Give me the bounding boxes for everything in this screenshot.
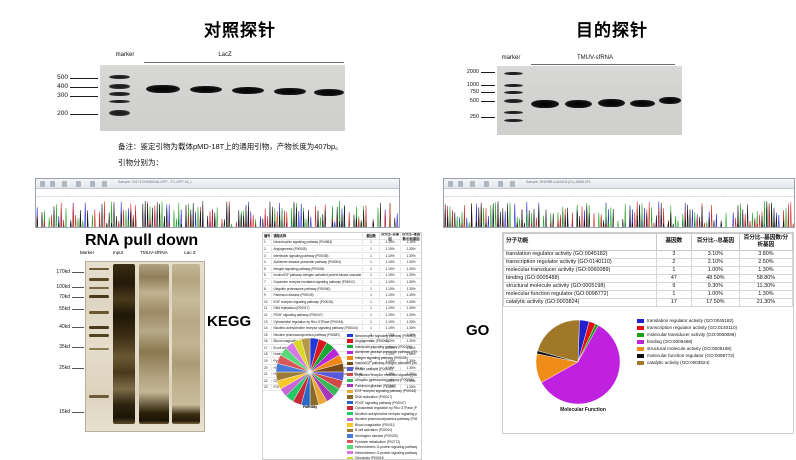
kegg-cell-genes: 1 xyxy=(362,254,379,258)
go-col-pct-analyzed: 百分比--基因数/分析基因 xyxy=(739,234,792,251)
legend-swatch xyxy=(637,319,644,323)
go-cell-pct-total: 17.50% xyxy=(692,298,740,306)
pulldown-lane-lacz: Lac Z xyxy=(176,250,204,255)
legend-label: Kinase cascade (P00032) xyxy=(355,367,393,371)
legend-swatch xyxy=(347,356,353,359)
kegg-cell-pathway: Parkinson disease (P00049) xyxy=(271,293,362,297)
kegg-cell-genes: 1 xyxy=(362,320,379,324)
chromatogram-right-ruler xyxy=(444,189,794,197)
go-cell-pct-total: 2.10% xyxy=(692,258,740,266)
go-cell-pct-analyzed: 58.80% xyxy=(739,274,792,282)
kegg-cell-pathway: EGF receptor signaling pathway (P00018) xyxy=(271,300,362,304)
go-cell-genes: 17 xyxy=(656,298,692,306)
ladder-label-55kd: 55kd xyxy=(48,306,70,312)
target-gel-sample-rule xyxy=(531,64,675,65)
go-cell-pct-total: 1.00% xyxy=(692,290,740,298)
marker-band xyxy=(89,311,109,314)
legend-label: transcription regulator activity (GO:014… xyxy=(647,325,737,330)
kegg-cell-no: 3 xyxy=(263,254,271,258)
marker-band xyxy=(109,110,130,116)
legend-swatch xyxy=(347,390,353,393)
kegg-cell-genes: 1 xyxy=(362,293,379,297)
go-sheet[interactable]: 分子功能 基因数 百分比--总基因 百分比--基因数/分析基因 translat… xyxy=(502,232,794,434)
kegg-cell-genes: 1 xyxy=(362,313,379,317)
legend-label: EGF receptor signaling pathway (P00018) xyxy=(355,389,416,393)
legend-label: Neurotrophin signaling pathway (P04963) xyxy=(355,334,416,338)
kegg-sheet[interactable]: 编号 通路名称 基因数 百分比--总基因 百分比--基因数/分析基因 1Neur… xyxy=(262,232,422,460)
kegg-cell-pathway: PDGF signaling pathway (P00047) xyxy=(271,313,362,317)
ladder-label-500: 500 xyxy=(455,98,479,104)
ladder-tick xyxy=(72,297,84,298)
marker-band xyxy=(89,295,109,298)
open-icon[interactable] xyxy=(40,181,45,187)
kegg-cell-pct-total: 1.10% xyxy=(379,267,400,271)
kegg-table-row: 12PDGF signaling pathway (P00047)11.10%1… xyxy=(263,312,421,319)
marker-band xyxy=(504,84,523,87)
go-table-row: structural molecule activity (GO:0005198… xyxy=(504,282,793,290)
marker-band xyxy=(109,100,130,103)
save-icon[interactable] xyxy=(458,181,463,187)
chromatogram-left-trace xyxy=(36,197,399,228)
sample-band xyxy=(232,87,264,94)
input-lane-smear xyxy=(113,264,135,424)
kegg-cell-pct-total: 1.10% xyxy=(379,254,400,258)
pulldown-lane-labels: Marker Input TMUV-sfRNA Lac Z xyxy=(72,250,204,260)
kegg-cell-no: 14 xyxy=(263,326,271,330)
kegg-cell-pct-analyzed: 1.30% xyxy=(400,320,421,324)
go-cell-pct-total: 48.50% xyxy=(692,274,740,282)
kegg-cell-pathway: Nicotinic acetylcholine receptor signali… xyxy=(271,326,362,330)
kegg-cell-no: 6 xyxy=(263,273,271,277)
kegg-table-row: 7Dopamine receptor mediated signaling pa… xyxy=(263,279,421,286)
kegg-legend-item: Nicotinic acetylcholine receptor signali… xyxy=(347,411,417,416)
go-table: 分子功能 基因数 百分比--总基因 百分比--基因数/分析基因 translat… xyxy=(503,233,793,307)
kegg-cell-pct-total: 1.10% xyxy=(379,326,400,330)
kegg-cell-pct-total: 1.10% xyxy=(379,320,400,324)
marker-band xyxy=(89,348,109,350)
kegg-legend-item: Nicotine pharmacodynamics pathway (P0658… xyxy=(347,417,417,422)
legend-swatch xyxy=(347,429,353,432)
trace-svg xyxy=(444,197,794,228)
go-pie-chart xyxy=(533,317,633,407)
legend-label: PDGF signaling pathway (P00047) xyxy=(355,401,406,405)
legend-swatch xyxy=(637,354,644,358)
ladder-label-40kd: 40kd xyxy=(48,324,70,330)
tmuv-lane-smear xyxy=(139,264,169,424)
marker-band xyxy=(89,334,109,337)
legend-label: Pyruvate metabolism (P02772) xyxy=(355,440,400,444)
go-table-row: molecular function regulator (GO:0098772… xyxy=(504,290,793,298)
go-cell-genes: 9 xyxy=(656,282,692,290)
kegg-legend-item: Parkinson disease (P00049) xyxy=(347,383,417,388)
kegg-cell-no: 12 xyxy=(263,313,271,317)
ladder-tick xyxy=(481,101,495,102)
kegg-cell-genes: 1 xyxy=(362,306,379,310)
go-cell-pct-analyzed: 1.30% xyxy=(739,290,792,298)
legend-swatch xyxy=(347,434,353,437)
legend-label: catalytic activity (GO:0003824) xyxy=(647,360,710,365)
legend-label: Integrin signaling pathway (P00034) xyxy=(355,356,408,360)
legend-label: Insulin/IGF pathway-mitogen activated pr… xyxy=(355,361,417,365)
go-cell-pct-analyzed: 11.30% xyxy=(739,282,792,290)
settings-icon[interactable] xyxy=(510,181,515,187)
kegg-cell-genes: 1 xyxy=(362,273,379,277)
go-legend-item: molecular transducer activity (GO:006008… xyxy=(637,331,793,338)
kegg-cell-no: 8 xyxy=(263,287,271,291)
legend-swatch xyxy=(347,406,353,409)
legend-swatch xyxy=(347,423,353,426)
kegg-legend-item: Dopamine receptor mediated signaling pat… xyxy=(347,372,417,377)
ladder-tick xyxy=(70,87,98,88)
kegg-cell-pct-analyzed: 1.30% xyxy=(400,240,421,244)
ladder-tick xyxy=(481,117,495,118)
kegg-cell-genes: 1 xyxy=(362,267,379,271)
legend-swatch xyxy=(637,361,644,365)
ladder-tick xyxy=(70,96,98,97)
pulldown-lane-input: Input xyxy=(105,250,131,255)
sample-band xyxy=(659,97,681,104)
kegg-legend-item: Blood coagulation (P00011) xyxy=(347,422,417,427)
kegg-cell-pct-total: 1.10% xyxy=(379,313,400,317)
trace-channel xyxy=(444,201,794,228)
go-col-genes: 基因数 xyxy=(656,234,692,251)
legend-label: Heterotrimeric G-protein signaling pathw… xyxy=(355,445,417,449)
control-gel-image xyxy=(100,65,345,131)
go-table-row: molecular transducer activity (GO:006008… xyxy=(504,266,793,274)
kegg-legend-item: Kinase cascade (P00032) xyxy=(347,366,417,371)
kegg-cell-pathway: Cytoskeletal regulation by Rho GTPase (P… xyxy=(271,320,362,324)
go-cell-term: transcription regulator activity (GO:014… xyxy=(504,258,657,266)
legend-label: binding (GO:0005488) xyxy=(647,339,692,344)
go-cell-genes: 1 xyxy=(656,266,692,274)
go-legend-item: molecular function regulator (GO:0098772… xyxy=(637,352,793,359)
legend-swatch xyxy=(637,333,644,337)
save-icon[interactable] xyxy=(50,181,55,187)
marker-band xyxy=(504,119,523,122)
chromatogram-right[interactable]: Sample: RNORB-1d161N1(GL)-5NB13F1 xyxy=(443,178,795,228)
ladder-tick xyxy=(72,347,84,348)
go-cell-term: catalytic activity (GO:0003824) xyxy=(504,298,657,306)
kegg-legend-item: Huntington disease (P00029) xyxy=(347,433,417,438)
kegg-cell-no: 4 xyxy=(263,260,271,264)
sample-band xyxy=(314,89,344,96)
legend-swatch xyxy=(347,401,353,404)
legend-swatch xyxy=(347,384,353,387)
sample-band xyxy=(190,86,222,93)
legend-label: Nicotine pharmacodynamics pathway (P0658… xyxy=(355,417,417,421)
zoom-icon[interactable] xyxy=(498,181,503,187)
kegg-legend-item: PDGF signaling pathway (P00047) xyxy=(347,400,417,405)
legend-swatch xyxy=(347,418,353,421)
ladder-label-2000: 2000 xyxy=(455,69,479,75)
target-gel-marker-label: marker xyxy=(493,55,529,61)
marker-band xyxy=(89,395,109,398)
kegg-legend-item: Pyruvate metabolism (P02772) xyxy=(347,439,417,444)
go-table-header-row: 分子功能 基因数 百分比--总基因 百分比--基因数/分析基因 xyxy=(504,234,793,251)
go-cell-pct-total: 3.10% xyxy=(692,250,740,258)
legend-swatch xyxy=(347,451,353,454)
kegg-legend-item: Integrin signaling pathway (P00034) xyxy=(347,355,417,360)
ladder-tick xyxy=(70,114,98,115)
legend-swatch xyxy=(347,339,353,342)
go-cell-term: translation regulator activity (GO:00451… xyxy=(504,250,657,258)
go-legend-item: binding (GO:0005488) xyxy=(637,338,793,345)
kegg-cell-no: 10 xyxy=(263,300,271,304)
ladder-tick xyxy=(481,85,495,86)
legend-swatch xyxy=(347,362,353,365)
legend-swatch xyxy=(347,334,353,337)
legend-swatch xyxy=(347,440,353,443)
kegg-cell-pct-total: 1.10% xyxy=(379,247,400,251)
kegg-cell-pct-total: 1.10% xyxy=(379,287,400,291)
go-cell-term: binding (GO:0005488) xyxy=(504,274,657,282)
chromatogram-right-trace xyxy=(444,197,794,228)
legend-label: molecular function regulator (GO:0098772… xyxy=(647,353,734,358)
kegg-legend-item: Angiogenesis (P00005) xyxy=(347,339,417,344)
control-gel-marker-label: marker xyxy=(105,52,145,58)
kegg-col-no: 编号 xyxy=(263,233,271,238)
kegg-table-row: 4Alzheimer disease-presenilin pathway (P… xyxy=(263,259,421,266)
go-table-body: translation regulator activity (GO:00451… xyxy=(504,250,793,306)
kegg-cell-no: 5 xyxy=(263,267,271,271)
go-col-pct-total: 百分比--总基因 xyxy=(692,234,740,251)
kegg-cell-no: 2 xyxy=(263,247,271,251)
sample-band xyxy=(274,88,306,95)
legend-swatch xyxy=(347,412,353,415)
kegg-table-row: 1Neurotrophin signaling pathway (P04963)… xyxy=(263,240,421,247)
legend-label: translation regulator activity (GO:00451… xyxy=(647,318,734,323)
legend-label: Parkinson disease (P00049) xyxy=(355,384,396,388)
go-cell-term: molecular transducer activity (GO:006008… xyxy=(504,266,657,274)
kegg-legend: Neurotrophin signaling pathway (P04963)A… xyxy=(347,333,417,460)
legend-label: Alzheimer disease-presenilin pathway (P0… xyxy=(355,350,417,354)
ladder-label-300: 300 xyxy=(46,92,68,99)
legend-label: Heterotrimeric G-protein signaling pathw… xyxy=(355,451,417,455)
ladder-tick xyxy=(481,72,495,73)
go-legend-item: structural molecule activity (GO:0005198… xyxy=(637,345,793,352)
kegg-cell-pct-analyzed: 1.30% xyxy=(400,287,421,291)
kegg-legend-item: Interleukin signaling pathway (P00036) xyxy=(347,344,417,349)
kegg-col-genes: 基因数 xyxy=(362,233,379,238)
go-table-row: binding (GO:0005488)4748.50%58.80% xyxy=(504,274,793,282)
export-icon[interactable] xyxy=(470,181,475,187)
ladder-label-1000: 1000 xyxy=(455,82,479,88)
ladder-label-170kd: 170kd xyxy=(48,269,70,275)
kegg-cell-pct-analyzed: 1.30% xyxy=(400,300,421,304)
go-legend-item: transcription regulator activity (GO:014… xyxy=(637,324,793,331)
trace-channel xyxy=(444,202,794,229)
trace-channel xyxy=(444,202,794,229)
legend-swatch xyxy=(347,373,353,376)
go-cell-genes: 47 xyxy=(656,274,692,282)
marker-band xyxy=(89,268,109,270)
kegg-cell-pathway: Alzheimer disease-presenilin pathway (P0… xyxy=(271,260,362,264)
kegg-cell-genes: 1 xyxy=(362,240,379,244)
kegg-cell-no: 11 xyxy=(263,306,271,310)
print-icon[interactable] xyxy=(76,181,81,187)
sample-band xyxy=(630,100,655,107)
kegg-legend-item: Ubiquitin proteasome pathway (P00060) xyxy=(347,378,417,383)
kegg-cell-pct-analyzed: 1.30% xyxy=(400,313,421,317)
go-col-function: 分子功能 xyxy=(504,234,657,251)
go-table-row: catalytic activity (GO:0003824)1717.50%2… xyxy=(504,298,793,306)
settings-icon[interactable] xyxy=(102,181,107,187)
go-cell-pct-analyzed: 3.80% xyxy=(739,250,792,258)
legend-label: Dopamine receptor mediated signaling pat… xyxy=(355,373,417,377)
ladder-tick xyxy=(72,327,84,328)
ladder-label-100kd: 100kd xyxy=(48,284,70,290)
pulldown-title: RNA pull down xyxy=(85,232,198,250)
go-legend-item: catalytic activity (GO:0003824) xyxy=(637,359,793,366)
chromatogram-left[interactable]: Sample: 20171029080048-GFP - TC-GFP-18_L xyxy=(35,178,400,228)
go-pie-caption: Molecular Function xyxy=(533,407,633,413)
marker-band xyxy=(504,72,523,75)
kegg-cell-pct-analyzed: 1.30% xyxy=(400,254,421,258)
ladder-label-15kd: 15kd xyxy=(48,409,70,415)
legend-swatch xyxy=(347,395,353,398)
kegg-cell-genes: 1 xyxy=(362,300,379,304)
marker-band xyxy=(504,91,523,94)
kegg-cell-pathway: Interleukin signaling pathway (P00036) xyxy=(271,254,362,258)
ladder-label-200: 200 xyxy=(46,110,68,117)
kegg-table-header: 编号 通路名称 基因数 百分比--总基因 百分比--基因数/分析基因 xyxy=(263,233,421,240)
pulldown-ladder-labels: 170kd 100kd 70kd 55kd 40kd 35kd 25kd 15k… xyxy=(48,261,88,431)
legend-label: Glycolysis (P00024) xyxy=(355,456,384,460)
target-probe-gel-panel: marker TMUV-sfRNA 2000 1000 750 500 250 xyxy=(455,52,745,142)
kegg-cell-pathway: Neurotrophin signaling pathway (P04963) xyxy=(271,240,362,244)
kegg-cell-pct-analyzed: 1.30% xyxy=(400,247,421,251)
kegg-pie-chart xyxy=(273,335,347,409)
kegg-table-row: 2Angiogenesis (P00005)11.10%1.30% xyxy=(263,246,421,253)
kegg-table-row: 11DNA replication (P00017)11.10%1.30% xyxy=(263,306,421,313)
kegg-cell-pct-analyzed: 1.30% xyxy=(400,267,421,271)
kegg-table-row: 6Insulin/IGF pathway-mitogen activated p… xyxy=(263,273,421,280)
target-gel-image xyxy=(497,66,682,135)
ladder-label-250: 250 xyxy=(455,114,479,120)
kegg-legend-item: Heterotrimeric G-protein signaling pathw… xyxy=(347,450,417,455)
kegg-cell-genes: 1 xyxy=(362,247,379,251)
go-label: GO xyxy=(466,322,489,339)
control-gel-sample-label: LacZ xyxy=(195,52,255,58)
kegg-cell-genes: 1 xyxy=(362,260,379,264)
kegg-legend-item: Glycolysis (P00024) xyxy=(347,456,417,460)
kegg-cell-pathway: Dopamine receptor mediated signaling pat… xyxy=(271,280,362,284)
figure-caption-primers: 引物分别为： xyxy=(118,156,318,170)
go-cell-genes: 1 xyxy=(656,290,692,298)
legend-label: B cell activation (P00010) xyxy=(355,428,392,432)
control-probe-gel-panel: marker LacZ 500 400 300 200 xyxy=(40,48,400,138)
kegg-table-row: 10EGF receptor signaling pathway (P00018… xyxy=(263,299,421,306)
legend-label: Cytoskeletal regulation by Rho GTPase (P… xyxy=(355,406,417,410)
marker-band xyxy=(109,75,130,79)
legend-swatch xyxy=(347,345,353,348)
kegg-cell-pct-total: 1.10% xyxy=(379,306,400,310)
go-cell-term: molecular function regulator (GO:0098772… xyxy=(504,290,657,298)
go-cell-pct-analyzed: 2.50% xyxy=(739,258,792,266)
ladder-tick xyxy=(72,272,84,273)
legend-swatch xyxy=(637,326,644,330)
sample-band xyxy=(598,99,625,107)
kegg-cell-no: 13 xyxy=(263,320,271,324)
legend-label: Blood coagulation (P00011) xyxy=(355,423,395,427)
kegg-legend-item: Heterotrimeric G-protein signaling pathw… xyxy=(347,445,417,450)
kegg-legend-item: Neurotrophin signaling pathway (P04963) xyxy=(347,333,417,338)
chromatogram-left-toolbar[interactable]: Sample: 20171029080048-GFP - TC-GFP-18_L xyxy=(36,179,399,189)
kegg-cell-pathway: Integrin signaling pathway (P00034) xyxy=(271,267,362,271)
kegg-cell-pathway: Ubiquitin proteasome pathway (P00060) xyxy=(271,287,362,291)
ladder-tick xyxy=(72,412,84,413)
marker-band xyxy=(504,99,523,103)
ladder-tick xyxy=(481,92,495,93)
go-cell-term: structural molecule activity (GO:0005198… xyxy=(504,282,657,290)
kegg-cell-pct-analyzed: 1.30% xyxy=(400,326,421,330)
marker-band xyxy=(89,278,109,281)
kegg-pie-area: Pathway Neurotrophin signaling pathway (… xyxy=(267,333,417,457)
kegg-cell-no: 7 xyxy=(263,280,271,284)
legend-swatch xyxy=(347,457,353,460)
target-probe-title: 目的探针 xyxy=(512,16,712,41)
chromatogram-left-sample-text: Sample: 20171029080048-GFP - TC-GFP-18_L xyxy=(118,180,192,184)
go-legend-item: translation regulator activity (GO:00451… xyxy=(637,317,793,324)
legend-label: Ubiquitin proteasome pathway (P00060) xyxy=(355,378,414,382)
target-gel-sample-label: TMUV-sfRNA xyxy=(560,55,630,61)
chromatogram-left-ruler xyxy=(36,189,399,197)
open-icon[interactable] xyxy=(448,181,453,187)
ladder-label-25kd: 25kd xyxy=(48,365,70,371)
go-pie-area: Molecular Function translation regulator… xyxy=(503,315,793,433)
marker-band xyxy=(109,92,130,96)
figure-caption-note: 备注：鉴定引物为载体pMD-18T上的通用引物，产物长度为407bp。 xyxy=(118,140,418,154)
kegg-cell-pathway: Insulin/IGF pathway-mitogen activated pr… xyxy=(271,273,362,277)
kegg-cell-pct-total: 1.10% xyxy=(379,273,400,277)
kegg-table-row: 5Integrin signaling pathway (P00034)11.1… xyxy=(263,266,421,273)
kegg-cell-genes: 1 xyxy=(362,326,379,330)
sample-band xyxy=(531,100,559,108)
kegg-cell-no: 1 xyxy=(263,240,271,244)
ladder-tick xyxy=(72,287,84,288)
go-cell-pct-total: 9.30% xyxy=(692,282,740,290)
legend-swatch xyxy=(637,340,644,344)
kegg-legend-item: EGF receptor signaling pathway (P00018) xyxy=(347,389,417,394)
kegg-cell-genes: 1 xyxy=(362,280,379,284)
lacz-lane-smear xyxy=(172,264,200,424)
ladder-tick xyxy=(72,309,84,310)
pulldown-lane-tmuv: TMUV-sfRNA xyxy=(132,250,176,255)
kegg-label: KEGG xyxy=(207,313,251,330)
kegg-legend-item: DNA replication (P00017) xyxy=(347,394,417,399)
kegg-cell-pct-analyzed: 1.30% xyxy=(400,260,421,264)
marker-band xyxy=(109,84,130,89)
kegg-table-row: 14Nicotinic acetylcholine receptor signa… xyxy=(263,325,421,332)
export-icon[interactable] xyxy=(62,181,67,187)
zoom-icon[interactable] xyxy=(90,181,95,187)
ladder-label-500: 500 xyxy=(46,74,68,81)
print-icon[interactable] xyxy=(484,181,489,187)
ladder-tick xyxy=(70,78,98,79)
kegg-pie-caption: Pathway xyxy=(273,405,347,409)
legend-swatch xyxy=(637,347,644,351)
kegg-cell-pct-analyzed: 1.30% xyxy=(400,306,421,310)
go-table-row: transcription regulator activity (GO:014… xyxy=(504,258,793,266)
marker-band xyxy=(89,326,109,329)
go-cell-pct-analyzed: 21.30% xyxy=(739,298,792,306)
legend-label: Nicotinic acetylcholine receptor signali… xyxy=(355,412,417,416)
kegg-table-row: 9Parkinson disease (P00049)11.10%1.30% xyxy=(263,292,421,299)
legend-label: DNA replication (P00017) xyxy=(355,395,392,399)
pulldown-gel-image xyxy=(85,261,205,432)
legend-swatch xyxy=(347,367,353,370)
chromatogram-right-toolbar[interactable]: Sample: RNORB-1d161N1(GL)-5NB13F1 xyxy=(444,179,794,189)
